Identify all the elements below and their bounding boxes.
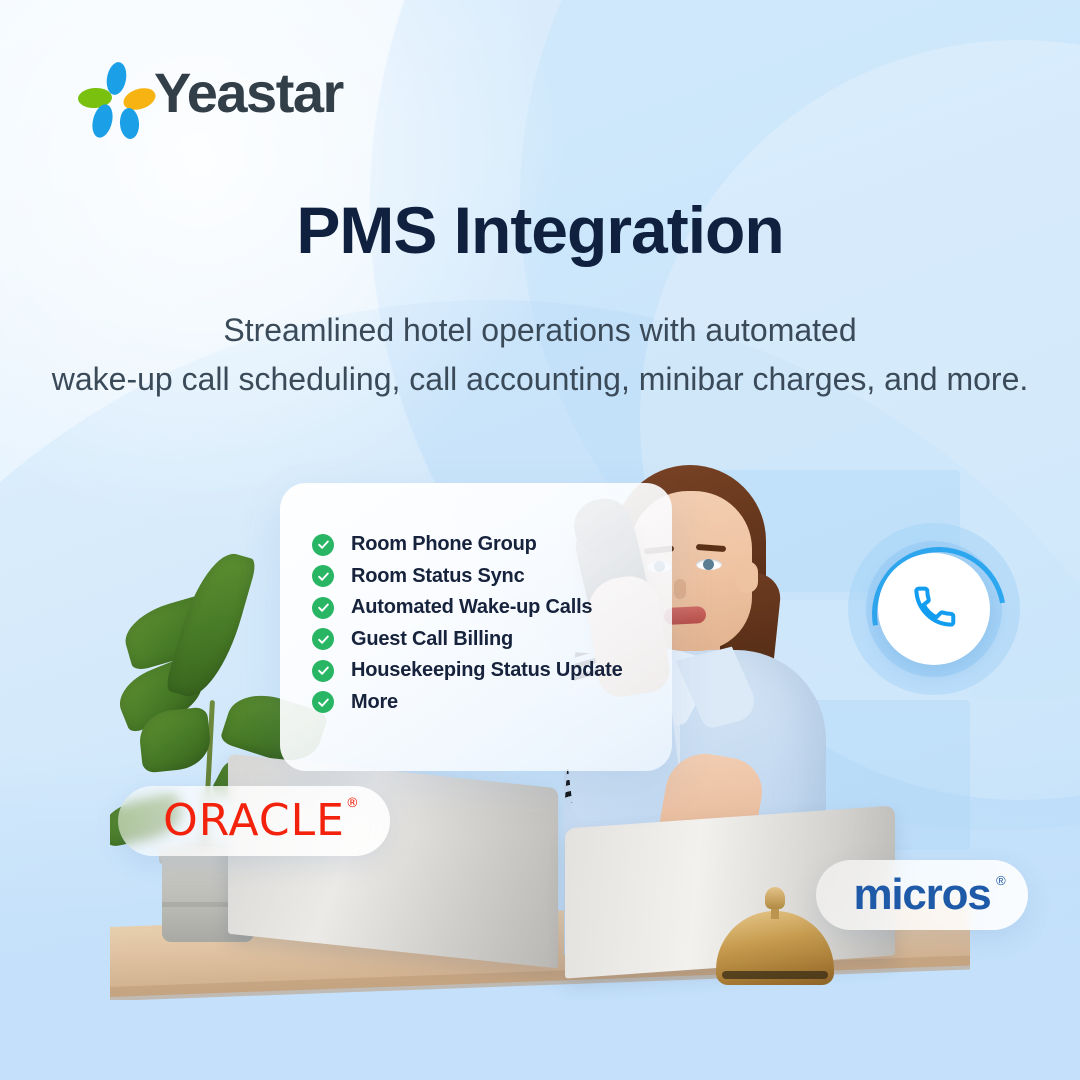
feature-label: Room Phone Group	[351, 533, 537, 556]
feature-label: Housekeeping Status Update	[351, 659, 623, 682]
list-item[interactable]: Room Status Sync	[312, 561, 672, 593]
check-circle-icon	[312, 597, 334, 619]
list-item[interactable]: More	[312, 687, 672, 719]
yeastar-pinwheel-icon	[78, 62, 140, 124]
feature-label: Guest Call Billing	[351, 628, 513, 651]
feature-label: Room Status Sync	[351, 565, 525, 588]
check-circle-icon	[312, 691, 334, 713]
check-circle-icon	[312, 565, 334, 587]
phone-handset-icon	[911, 584, 957, 635]
check-circle-icon	[312, 660, 334, 682]
page-subtitle: Streamlined hotel operations with automa…	[0, 306, 1080, 403]
partner-badge-oracle[interactable]: ORACLE®	[118, 786, 390, 856]
check-circle-icon	[312, 534, 334, 556]
check-circle-icon	[312, 628, 334, 650]
subtitle-line-1: Streamlined hotel operations with automa…	[0, 306, 1080, 355]
feature-label: Automated Wake-up Calls	[351, 596, 592, 619]
page-title: PMS Integration	[0, 196, 1080, 265]
partner-badge-micros[interactable]: micros®	[816, 860, 1028, 930]
registered-trademark-icon: ®	[996, 874, 1004, 887]
list-item[interactable]: Housekeeping Status Update	[312, 655, 672, 687]
brand-logo[interactable]: Yeastar	[78, 62, 343, 124]
call-badge[interactable]	[848, 523, 1020, 695]
promo-canvas: Yeastar PMS Integration Streamlined hote…	[0, 0, 1080, 1080]
list-item[interactable]: Room Phone Group	[312, 529, 672, 561]
list-item[interactable]: Guest Call Billing	[312, 624, 672, 656]
list-item[interactable]: Automated Wake-up Calls	[312, 592, 672, 624]
oracle-wordmark: ORACLE®	[163, 799, 345, 843]
features-list: Room Phone Group Room Status Sync Automa…	[312, 529, 672, 718]
feature-label: More	[351, 691, 398, 714]
subtitle-line-2: wake-up call scheduling, call accounting…	[0, 355, 1080, 404]
call-badge-core	[878, 553, 990, 665]
registered-trademark-icon: ®	[346, 797, 360, 810]
micros-wordmark: micros®	[853, 873, 990, 917]
brand-wordmark: Yeastar	[154, 65, 343, 121]
